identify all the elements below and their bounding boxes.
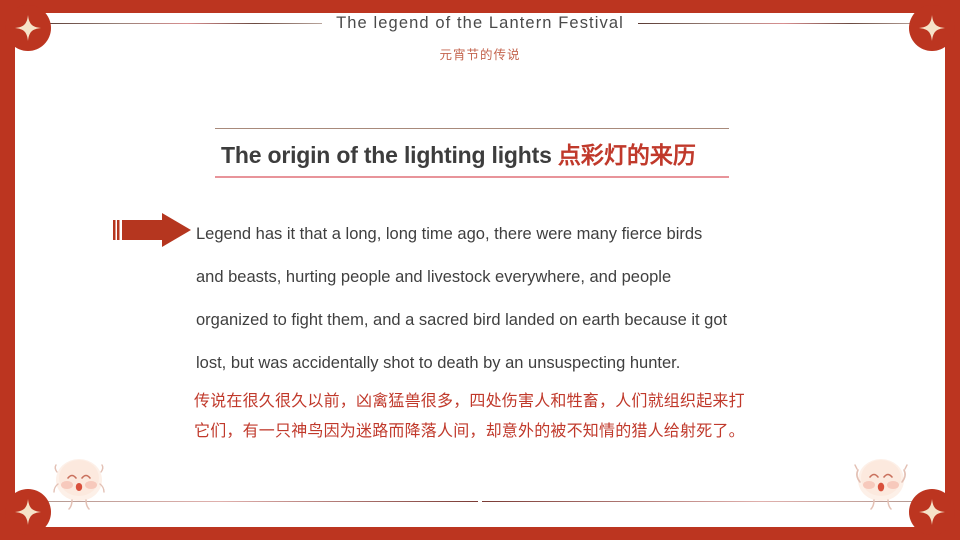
header-title: The legend of the Lantern Festival [336, 14, 624, 33]
slide-root: The legend of the Lantern Festival 元宵节的传… [0, 0, 960, 540]
footer-rule-right [482, 501, 912, 503]
body-line-cn: 它们，有一只神鸟因为迷路而降落人间，却意外的被不知情的猎人给射死了。 [194, 416, 834, 446]
arrow-right-icon [113, 213, 193, 247]
body-line: lost, but was accidentally shot to death… [196, 342, 844, 385]
section-title: The origin of the lighting lights 点彩灯的来历 [215, 129, 729, 176]
corner-badge-top-right [909, 5, 955, 51]
body-line: Legend has it that a long, long time ago… [196, 213, 844, 256]
sparkle-icon [15, 15, 41, 41]
tangyuan-mascot-icon-left [48, 454, 110, 512]
corner-badge-bottom-left [5, 489, 51, 535]
footer-rule-left [48, 501, 478, 503]
header-rule-right [638, 23, 918, 24]
section-title-chinese: 点彩灯的来历 [558, 143, 696, 169]
header-subtitle: 元宵节的传说 [0, 44, 960, 63]
corner-badge-top-left [5, 5, 51, 51]
section-title-block: The origin of the lighting lights 点彩灯的来历 [215, 128, 729, 178]
body-paragraph-chinese: 传说在很久很久以前，凶禽猛兽很多，四处伤害人和牲畜，人们就组织起来打 它们，有一… [194, 386, 834, 446]
section-rule-bottom [215, 176, 729, 178]
header-title-row: The legend of the Lantern Festival [0, 10, 960, 36]
header-rule-left [42, 23, 322, 24]
body-line: and beasts, hurting people and livestock… [196, 256, 844, 299]
body-line: organized to fight them, and a sacred bi… [196, 299, 844, 342]
sparkle-icon [919, 499, 945, 525]
corner-badge-bottom-right [909, 489, 955, 535]
body-line-cn: 传说在很久很久以前，凶禽猛兽很多，四处伤害人和牲畜，人们就组织起来打 [194, 386, 834, 416]
sparkle-icon [919, 15, 945, 41]
slide-header: The legend of the Lantern Festival 元宵节的传… [0, 10, 960, 72]
body-paragraph-english: Legend has it that a long, long time ago… [196, 213, 844, 385]
section-title-english: The origin of the lighting lights [221, 142, 552, 168]
sparkle-icon [15, 499, 41, 525]
tangyuan-mascot-icon-right [850, 454, 912, 512]
